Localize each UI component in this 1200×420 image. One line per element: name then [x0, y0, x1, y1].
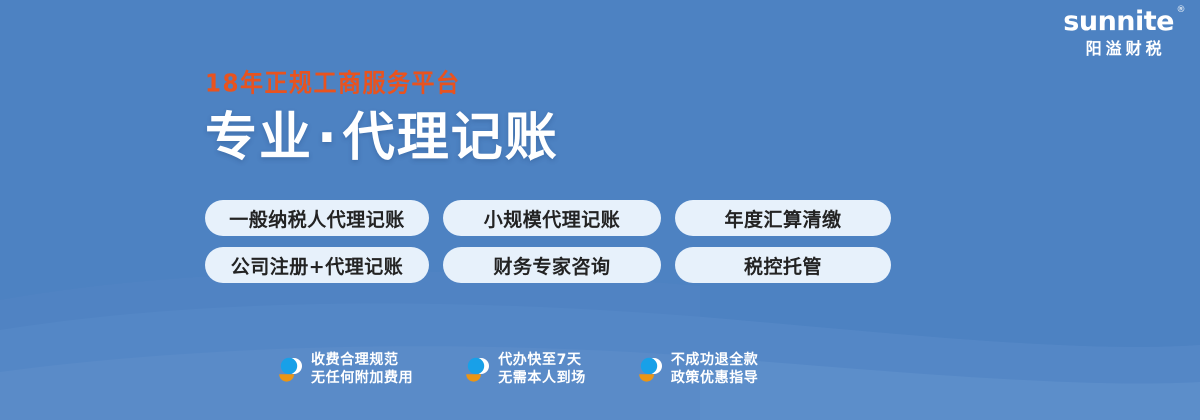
feature-line-2: 政策优惠指导 — [671, 370, 759, 388]
title-part-1: 专业 — [205, 108, 313, 168]
registered-trademark-icon: ® — [1177, 6, 1186, 15]
moon-dot-icon — [463, 355, 489, 385]
service-pill-company-registration-bookkeeping[interactable]: 公司注册+代理记账 — [205, 247, 429, 283]
feature-item-guarantee: 不成功退全款 政策优惠指导 — [636, 352, 759, 388]
moon-dot-icon — [636, 355, 662, 385]
feature-line-1: 不成功退全款 — [671, 352, 759, 370]
feature-line-2: 无任何附加费用 — [311, 370, 413, 388]
feature-text-pricing: 收费合理规范 无任何附加费用 — [311, 352, 413, 388]
title-separator: · — [313, 108, 343, 168]
feature-line-2: 无需本人到场 — [498, 370, 586, 388]
brand-wordmark: sunnite ® — [1063, 8, 1184, 35]
hero-text-block: 18年正规工商服务平台 专业·代理记账 — [205, 72, 559, 166]
title-part-2: 代理记账 — [343, 108, 559, 168]
feature-list: 收费合理规范 无任何附加费用 代办快至7天 无需本人到场 不成功退全款 — [276, 352, 758, 388]
wave-shape-left — [0, 271, 700, 420]
service-pill-annual-tax-settlement[interactable]: 年度汇算清缴 — [675, 200, 891, 236]
service-pill-finance-expert-consulting[interactable]: 财务专家咨询 — [443, 247, 661, 283]
service-pill-small-scale-bookkeeping[interactable]: 小规模代理记账 — [443, 200, 661, 236]
feature-item-speed: 代办快至7天 无需本人到场 — [463, 352, 586, 388]
feature-text-guarantee: 不成功退全款 政策优惠指导 — [671, 352, 759, 388]
service-pill-grid: 一般纳税人代理记账 小规模代理记账 年度汇算清缴 公司注册+代理记账 财务专家咨… — [205, 200, 891, 283]
feature-line-1: 收费合理规范 — [311, 352, 413, 370]
promo-banner: sunnite ® 阳溢财税 18年正规工商服务平台 专业·代理记账 一般纳税人… — [0, 0, 1200, 420]
hero-eyebrow: 18年正规工商服务平台 — [205, 72, 559, 97]
service-pill-general-taxpayer-bookkeeping[interactable]: 一般纳税人代理记账 — [205, 200, 429, 236]
moon-dot-icon — [276, 355, 302, 385]
brand-logo[interactable]: sunnite ® 阳溢财税 — [1063, 8, 1184, 58]
service-pill-tax-control-hosting[interactable]: 税控托管 — [675, 247, 891, 283]
feature-item-pricing: 收费合理规范 无任何附加费用 — [276, 352, 413, 388]
feature-text-speed: 代办快至7天 无需本人到场 — [498, 352, 586, 388]
brand-chinese-name: 阳溢财税 — [1063, 42, 1184, 58]
page-title: 专业·代理记账 — [205, 111, 559, 166]
feature-line-1: 代办快至7天 — [498, 352, 586, 370]
brand-wordmark-text: sunnite — [1063, 6, 1174, 37]
